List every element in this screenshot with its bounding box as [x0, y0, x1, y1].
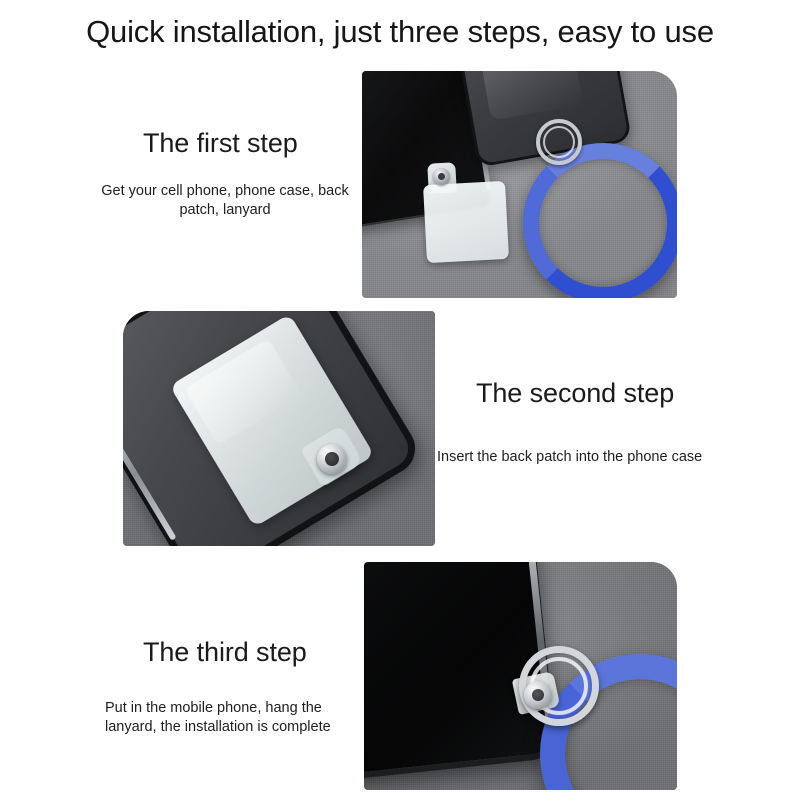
eyelet-icon — [433, 168, 450, 185]
step-three-heading: The third step — [143, 637, 307, 668]
step-two-description: Insert the back patch into the phone cas… — [437, 448, 727, 467]
page-title: Quick installation, just three steps, ea… — [0, 14, 800, 50]
step-one-description: Get your cell phone, phone case, back pa… — [100, 182, 350, 220]
step-three-description: Put in the mobile phone, hang the lanyar… — [105, 699, 360, 737]
photo-step-two — [123, 311, 435, 546]
photo-step-one — [362, 71, 677, 298]
split-key-ring — [536, 119, 582, 165]
eyelet-icon — [317, 444, 347, 474]
infographic-canvas: Quick installation, just three steps, ea… — [0, 0, 800, 800]
step-one-heading: The first step — [143, 128, 298, 159]
back-patch — [423, 181, 509, 263]
step-two-heading: The second step — [476, 378, 674, 409]
eyelet-icon — [524, 681, 552, 709]
blue-lanyard-ring — [523, 143, 677, 298]
photo-step-three — [364, 562, 677, 790]
